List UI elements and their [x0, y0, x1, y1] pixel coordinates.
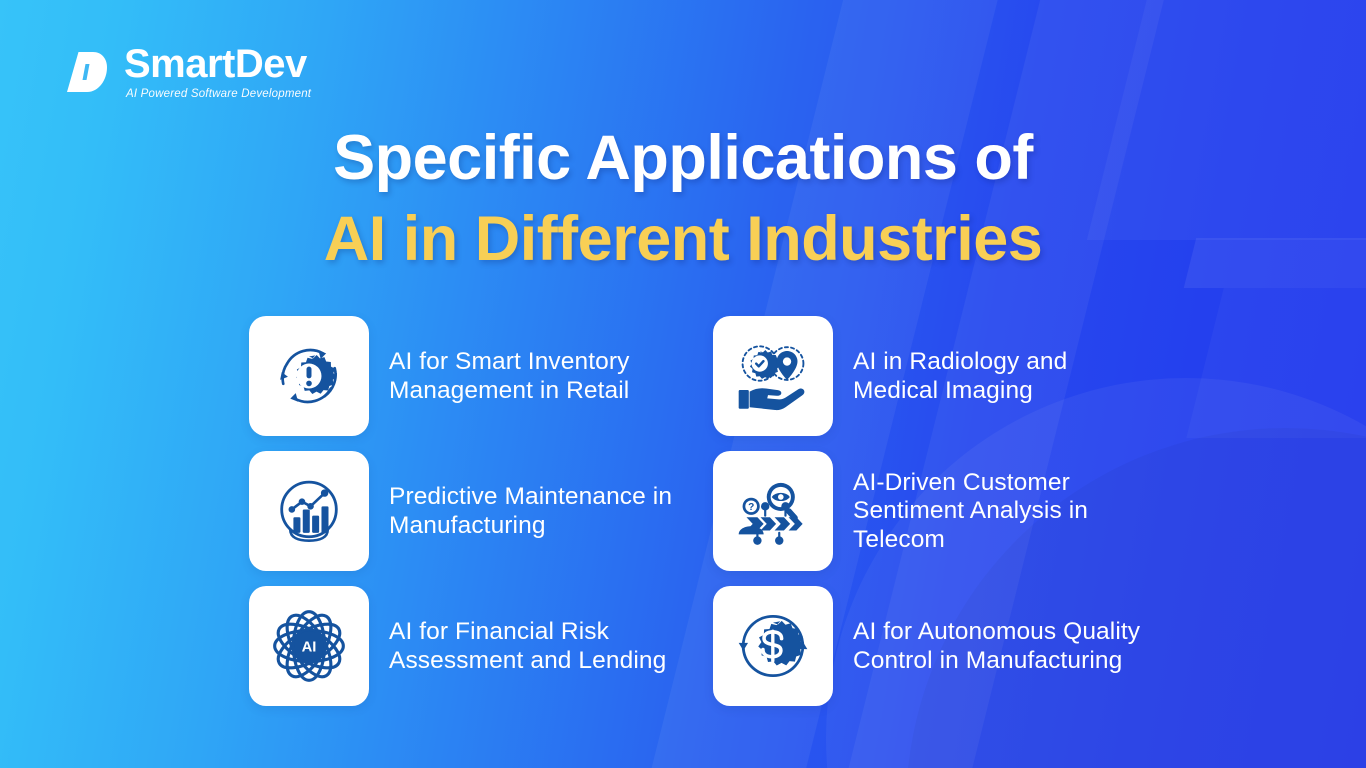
brand-logo: SmartDev AI Powered Software Development	[62, 44, 311, 101]
feature-label: Predictive Maintenance in Manufacturing	[389, 482, 679, 540]
crystal-ball-bar-chart-icon	[270, 472, 348, 550]
brand-name: SmartDev	[124, 44, 311, 84]
hand-gear-location-pin-icon	[734, 337, 812, 415]
feature-label: AI for Autonomous Quality Control in Man…	[853, 617, 1143, 675]
brand-tagline: AI Powered Software Development	[126, 89, 311, 101]
gear-alert-refresh-icon	[270, 337, 348, 415]
page-title: Specific Applications of AI in Different…	[0, 118, 1366, 279]
svg-text:?: ?	[748, 502, 754, 513]
feature-label: AI for Smart Inventory Management in Ret…	[389, 347, 679, 405]
feature-item: AI AI for Financial Risk Assessment and …	[249, 586, 679, 706]
feature-label: AI in Radiology and Medical Imaging	[853, 347, 1143, 405]
smartdev-d-mark-icon	[62, 48, 110, 96]
magnifier-eye-sentiment-flow-icon: ?	[734, 472, 812, 550]
feature-icon-card: ?	[713, 451, 833, 571]
feature-item: AI for Smart Inventory Management in Ret…	[249, 316, 679, 436]
svg-text:AI: AI	[302, 639, 317, 655]
background-block-lower	[1186, 288, 1366, 438]
feature-item: AI in Radiology and Medical Imaging	[713, 316, 1143, 436]
feature-label: AI for Financial Risk Assessment and Len…	[389, 617, 679, 675]
feature-icon-card	[713, 316, 833, 436]
feature-icon-card	[249, 451, 369, 571]
feature-item: Predictive Maintenance in Manufacturing	[249, 451, 679, 571]
feature-item: AI for Autonomous Quality Control in Man…	[713, 586, 1143, 706]
feature-grid: AI for Smart Inventory Management in Ret…	[249, 316, 1149, 706]
feature-icon-card	[249, 316, 369, 436]
feature-icon-card	[713, 586, 833, 706]
feature-icon-card: AI	[249, 586, 369, 706]
feature-item: ?	[713, 451, 1143, 571]
page-title-line-2: AI in Different Industries	[0, 199, 1366, 280]
feature-label: AI-Driven Customer Sentiment Analysis in…	[853, 468, 1143, 555]
brand-text-group: SmartDev AI Powered Software Development	[124, 44, 311, 101]
gear-dollar-refresh-icon	[734, 607, 812, 685]
slide-canvas: SmartDev AI Powered Software Development…	[0, 0, 1366, 768]
page-title-line-1: Specific Applications of	[0, 118, 1366, 199]
atom-ai-icon: AI	[270, 607, 348, 685]
